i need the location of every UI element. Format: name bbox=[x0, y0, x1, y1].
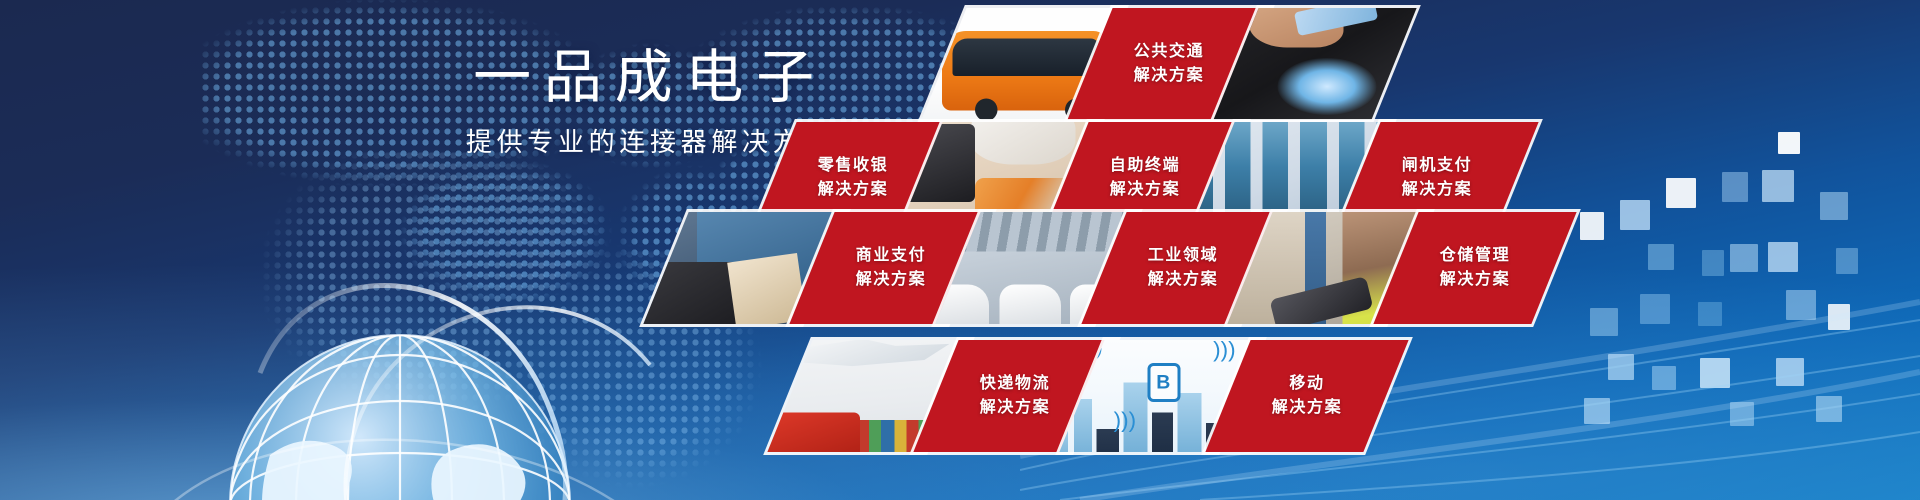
tile-label-line2: 解决方案 bbox=[1402, 178, 1472, 202]
tile-label-line2: 解决方案 bbox=[1148, 268, 1218, 292]
tile-label-line2: 解决方案 bbox=[1110, 178, 1180, 202]
tile-label-line1: 快递物流 bbox=[980, 372, 1050, 396]
tile-label-line2: 解决方案 bbox=[1272, 396, 1342, 420]
tile-label-line2: 解决方案 bbox=[856, 268, 926, 292]
tile-label-line2: 解决方案 bbox=[980, 396, 1050, 420]
tile-label-line2: 解决方案 bbox=[1134, 64, 1204, 88]
tile-label-line1: 移动 bbox=[1289, 372, 1324, 396]
wifi-icon: ))) bbox=[1114, 409, 1137, 432]
tile-label-line1: 工业领域 bbox=[1148, 244, 1218, 268]
promo-banner: 一品成电子 提供专业的连接器解决方案 bbox=[0, 0, 1920, 500]
wifi-icon: ))) bbox=[1213, 340, 1236, 361]
tile-label-line1: 闸机支付 bbox=[1402, 154, 1472, 178]
tile-label-line2: 解决方案 bbox=[1440, 268, 1510, 292]
tile-label-line1: 商业支付 bbox=[856, 244, 926, 268]
globe-graphic bbox=[150, 205, 670, 500]
tile-label-line1: 自助终端 bbox=[1110, 154, 1180, 178]
tile-label-line1: 仓储管理 bbox=[1440, 244, 1510, 268]
bluetooth-icon: B bbox=[1147, 362, 1180, 401]
tile-label-line1: 零售收银 bbox=[818, 154, 888, 178]
solutions-mosaic: 公共交通 解决方案 零售收银 解决方案 自助终端 解决方案 bbox=[650, 0, 1770, 500]
tile-label-line1: 公共交通 bbox=[1134, 40, 1204, 64]
tile-label-line2: 解决方案 bbox=[818, 178, 888, 202]
